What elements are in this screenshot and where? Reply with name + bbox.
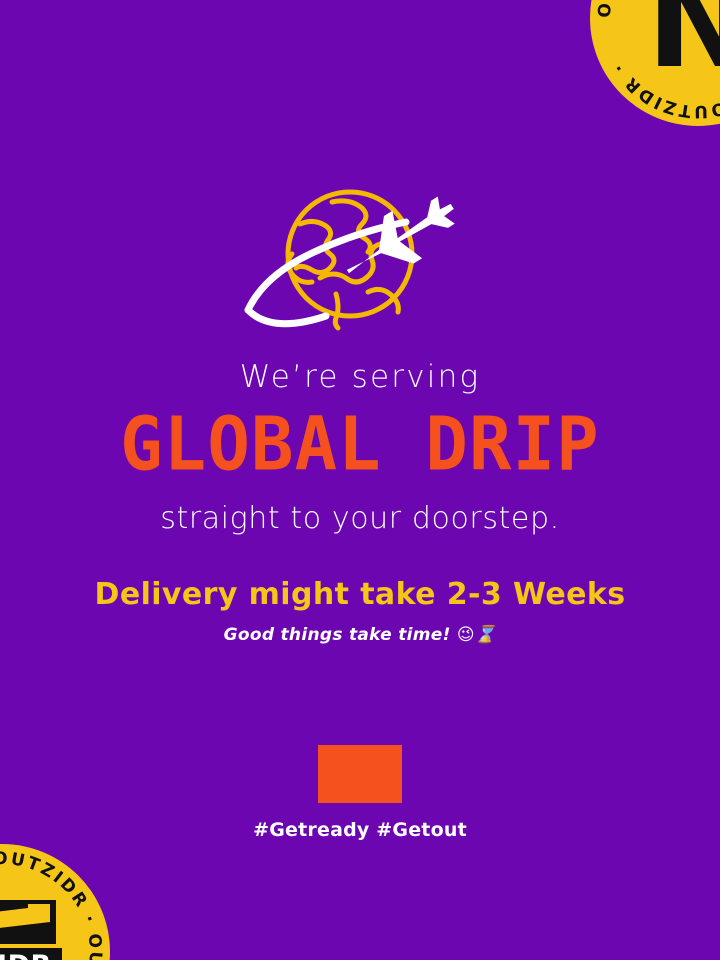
globe-icon bbox=[288, 192, 412, 328]
globe-airplane-illustration bbox=[240, 182, 480, 337]
brand-badge-bottom-left: OUTZIDR · OUTZIDR · OUTZIDR · OUTZIDR · … bbox=[0, 842, 112, 960]
page-title: GLOBAL DRIP bbox=[0, 407, 720, 481]
kicker-text: We’re serving bbox=[0, 362, 720, 393]
hashtags-text: #Getready #Getout bbox=[0, 821, 720, 840]
brand-badge-top-right: OUTZIDR · OUTZIDR · OUTZIDR · OUTZIDR · … bbox=[588, 0, 720, 128]
badge-wordmark-bottom: OUTZIDR bbox=[0, 950, 52, 960]
poster-copy: We’re serving GLOBAL DRIP straight to yo… bbox=[0, 362, 720, 644]
badge-letter-top: N bbox=[646, 0, 720, 97]
promo-poster: We’re serving GLOBAL DRIP straight to yo… bbox=[0, 0, 720, 960]
footer-brand: #Getready #Getout bbox=[0, 745, 720, 840]
subhead-text: straight to your doorstep. bbox=[0, 504, 720, 534]
delivery-estimate-text: Delivery might take 2-3 Weeks bbox=[0, 580, 720, 610]
z-logo-icon bbox=[318, 745, 402, 803]
tagline-text: Good things take time! 😉⌛ bbox=[0, 627, 720, 644]
